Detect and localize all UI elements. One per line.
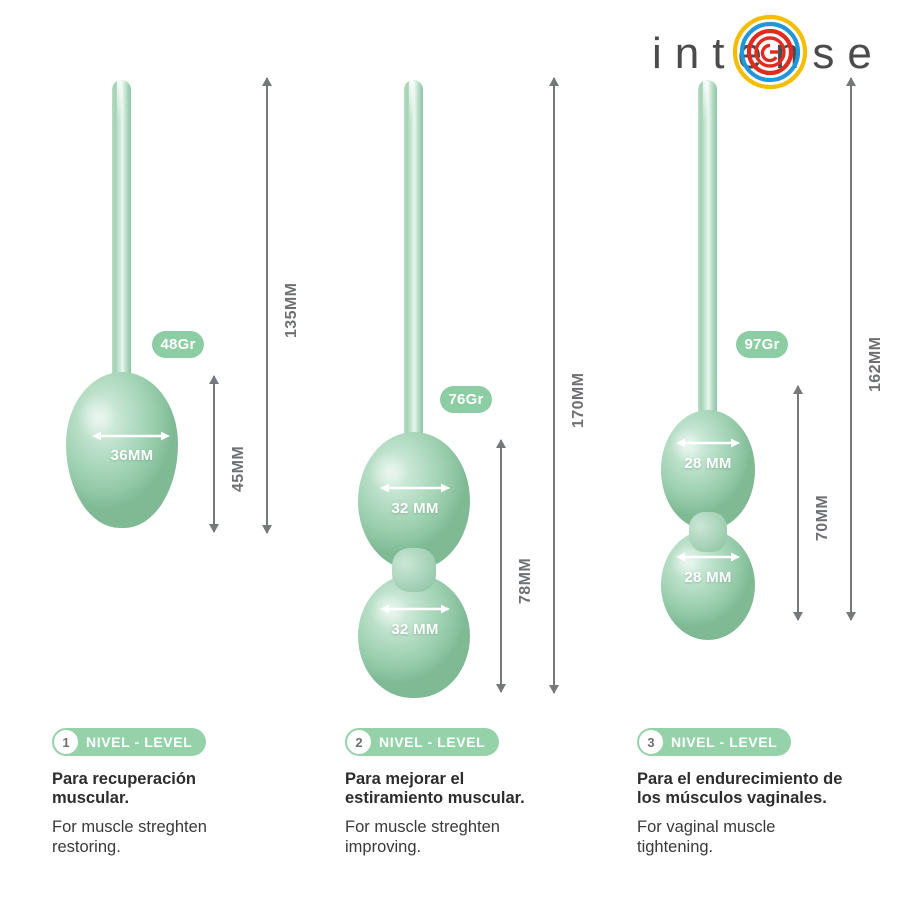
product-2-width-label-1: 32 MM xyxy=(355,500,475,517)
product-2-body-dimension xyxy=(490,440,512,692)
dimension-line xyxy=(500,440,502,692)
level-3-badge: 3 NIVEL - LEVEL xyxy=(637,728,791,756)
product-3-width-label-1: 28 MM xyxy=(648,455,768,472)
level-2-number: 2 xyxy=(347,730,371,754)
level-1-description-es: Para recuperación muscular. xyxy=(52,770,312,809)
level-card-3: 3 NIVEL - LEVEL Para el endurecimiento d… xyxy=(637,728,900,858)
concentric-rings-e-logo-icon xyxy=(732,14,808,90)
arrow-down-icon xyxy=(793,612,803,621)
arrow-down-icon xyxy=(262,525,272,534)
product-3-total-dimension-label: 162MM xyxy=(864,337,888,392)
arrow-up-icon xyxy=(496,439,506,448)
product-3-total-dimension xyxy=(840,78,862,620)
product-1-body-dimension xyxy=(203,376,225,532)
product-2-weight-badge: 76Gr xyxy=(440,386,492,413)
product-2-waist xyxy=(392,548,436,592)
arrow-up-icon xyxy=(846,77,856,86)
product-2-width-arrow-1 xyxy=(380,482,450,494)
dimension-line xyxy=(553,78,555,693)
level-3-number: 3 xyxy=(639,730,663,754)
dimension-line xyxy=(213,376,215,532)
brand-logo: intense xyxy=(652,12,900,90)
level-1-number: 1 xyxy=(54,730,78,754)
dimension-line xyxy=(266,78,268,533)
product-2-total-dimension-label: 170MM xyxy=(567,373,591,428)
product-3-weight-badge: 97Gr xyxy=(736,331,788,358)
level-1-pill-label: NIVEL - LEVEL xyxy=(86,734,192,750)
level-3-description-en: For vaginal muscle tightening. xyxy=(637,818,900,858)
arrow-down-icon xyxy=(496,684,506,693)
product-2-body-dimension-label: 78MM xyxy=(514,558,538,604)
product-1-body-dimension-label: 45MM xyxy=(227,446,251,492)
level-3-pill-label: NIVEL - LEVEL xyxy=(671,734,777,750)
arrow-up-icon xyxy=(793,385,803,394)
product-3-width-label-2: 28 MM xyxy=(648,569,768,586)
level-1-badge: 1 NIVEL - LEVEL xyxy=(52,728,206,756)
product-2-width-label-2: 32 MM xyxy=(355,621,475,638)
level-2-description-en: For muscle streghten improving. xyxy=(345,818,625,858)
product-1-weight-badge: 48Gr xyxy=(152,331,204,358)
level-1-description-en: For muscle streghten restoring. xyxy=(52,818,312,858)
level-card-1: 1 NIVEL - LEVEL Para recuperación muscul… xyxy=(52,728,312,858)
level-2-description-es: Para mejorar el estiramiento muscular. xyxy=(345,770,625,809)
arrow-down-icon xyxy=(846,612,856,621)
product-1-total-dimension-label: 135MM xyxy=(280,283,304,338)
level-2-pill-label: NIVEL - LEVEL xyxy=(379,734,485,750)
product-2-total-dimension xyxy=(543,78,565,693)
arrow-down-icon xyxy=(549,685,559,694)
level-2-badge: 2 NIVEL - LEVEL xyxy=(345,728,499,756)
arrow-up-icon xyxy=(262,77,272,86)
infographic-canvas: intense 36MM 48Gr xyxy=(0,0,900,900)
product-1-width-label: 36MM xyxy=(72,447,192,464)
arrow-up-icon xyxy=(209,375,219,384)
product-3-waist xyxy=(689,512,727,552)
product-3-width-arrow-1 xyxy=(676,437,740,449)
product-1-total-dimension xyxy=(256,78,278,533)
product-2-stem xyxy=(404,80,423,450)
level-3-description-es: Para el endurecimiento de los músculos v… xyxy=(637,770,900,809)
dimension-line xyxy=(797,386,799,620)
product-1-stem xyxy=(112,80,131,385)
product-3-body-dimension-label: 70MM xyxy=(811,495,835,541)
level-card-2: 2 NIVEL - LEVEL Para mejorar el estirami… xyxy=(345,728,625,858)
arrow-down-icon xyxy=(209,524,219,533)
product-2-width-arrow-2 xyxy=(380,603,450,615)
product-3-width-arrow-2 xyxy=(676,551,740,563)
arrow-up-icon xyxy=(549,77,559,86)
product-3-body-dimension xyxy=(787,386,809,620)
product-1-width-arrow xyxy=(92,430,170,442)
dimension-line xyxy=(850,78,852,620)
product-3-stem xyxy=(698,80,717,425)
